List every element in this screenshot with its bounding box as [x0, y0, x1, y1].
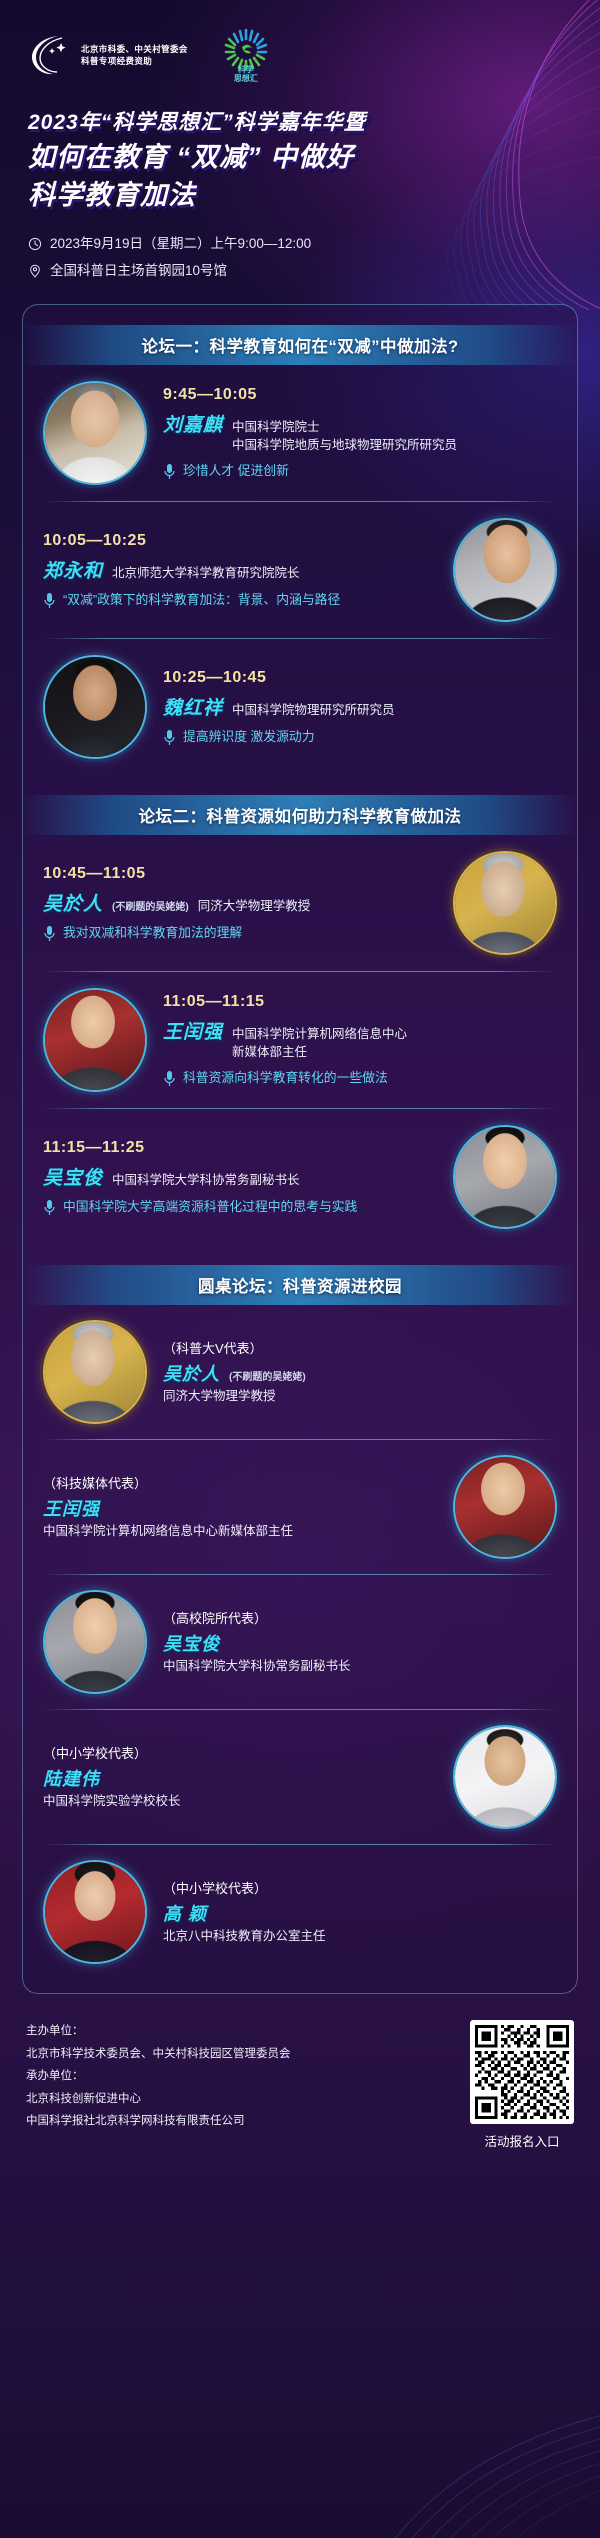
location-pin-icon — [28, 264, 42, 278]
event-datetime-row: 2023年9月19日（星期二）上午9:00—12:00 — [28, 230, 572, 257]
speaker-name: 王闰强 — [163, 1017, 223, 1044]
avatar — [43, 988, 147, 1092]
participant-name: 陆建伟 — [43, 1765, 100, 1791]
avatar-photo-figure — [455, 1727, 555, 1827]
poster-root: 北京市科委、中关村管委会 科普专项经费资助 — [0, 0, 600, 2538]
avatar-photo-figure — [455, 520, 555, 620]
avatar-photo-figure — [45, 1322, 145, 1422]
speaker-title-line1: 中国科学院计算机网络信息中心 — [232, 1027, 407, 1041]
logo-label-line1: 科学 — [234, 65, 258, 74]
organizer-value: 北京市科学技术委员会、中关村科技园区管理委员会 — [26, 2043, 291, 2065]
speaker-row: 10:45—11:05 吴於人 (不刷题的吴姥姥) 同济大学物理学教授 我对双减… — [23, 835, 577, 971]
logo-text-line2: 科普专项经费资助 — [81, 55, 188, 67]
title-line-1: 2023年“科学思想汇”科学嘉年华暨 — [28, 108, 572, 138]
avatar — [453, 1455, 557, 1559]
avatar — [453, 851, 557, 955]
speaker-time: 11:15—11:25 — [43, 1139, 437, 1157]
avatar — [43, 381, 147, 485]
participant-role: （科技媒体代表） — [43, 1474, 437, 1495]
speaker-topic: 中国科学院大学高端资源科普化过程中的思考与实践 — [63, 1198, 357, 1217]
speaker-info: 11:05—11:15 王闰强 中国科学院计算机网络信息中心 新媒体部主任 科普… — [163, 993, 557, 1088]
speaker-topic-row: “双减”政策下的科学教育加法：背景、内涵与路径 — [43, 591, 437, 610]
qr-label: 活动报名入口 — [484, 2131, 559, 2150]
speaker-info: 10:05—10:25 郑永和 北京师范大学科学教育研究院院长 “双减”政策下的… — [43, 532, 437, 610]
speaker-row: 10:25—10:45 魏红祥 中国科学院物理研究所研究员 提高辨识度 激发源动… — [23, 639, 577, 775]
avatar — [43, 655, 147, 759]
speaker-row: 9:45—10:05 刘嘉麒 中国科学院院士 中国科学院地质与地球物理研究所研究… — [23, 365, 577, 501]
participant-org: 中国科学院实验学校校长 — [43, 1791, 437, 1811]
roundtable-info: （中小学校代表） 高 颖 北京八中科技教育办公室主任 — [163, 1879, 557, 1946]
speaker-title: 中国科学院计算机网络信息中心 新媒体部主任 — [232, 1026, 407, 1062]
event-venue-row: 全国科普日主场首钢园10号馆 — [28, 257, 572, 284]
event-datetime: 2023年9月19日（星期二）上午9:00—12:00 — [50, 230, 311, 257]
registration-qr-block[interactable]: 活动报名入口 — [470, 2020, 574, 2150]
participant-name-row: 王闰强 — [43, 1495, 437, 1521]
avatar-photo-figure — [45, 383, 145, 483]
speaker-title-line2: 中国科学院地质与地球物理研究所研究员 — [232, 438, 457, 452]
participant-name-row: 吴宝俊 — [163, 1630, 557, 1656]
participant-alias: (不刷题的吴姥姥) — [229, 1368, 306, 1383]
speaker-topic: “双减”政策下的科学教育加法：背景、内涵与路径 — [63, 591, 340, 610]
clock-icon — [28, 237, 42, 251]
roundtable-banner-label: 圆桌论坛：科普资源进校园 — [198, 1273, 402, 1297]
speaker-name-row: 吴於人 (不刷题的吴姥姥) 同济大学物理学教授 — [43, 889, 437, 916]
roundtable-row: （科技媒体代表） 王闰强 中国科学院计算机网络信息中心新媒体部主任 — [23, 1440, 577, 1574]
title-line-3: 科学教育加法 — [28, 176, 572, 214]
speaker-info: 11:15—11:25 吴宝俊 中国科学院大学科协常务副秘书长 中国科学院大学高… — [43, 1139, 437, 1217]
speaker-title: 中国科学院物理研究所研究员 — [232, 702, 395, 720]
participant-role: （中小学校代表） — [163, 1879, 557, 1900]
logo-row: 北京市科委、中关村管委会 科普专项经费资助 — [28, 22, 572, 88]
roundtable-info: （中小学校代表） 陆建伟 中国科学院实验学校校长 — [43, 1744, 437, 1811]
participant-name-row: 吴於人 (不刷题的吴姥姥) — [163, 1360, 557, 1386]
forum1-banner-label: 论坛一：科学教育如何在“双减”中做加法? — [141, 333, 458, 357]
speaker-name-row: 吴宝俊 中国科学院大学科协常务副秘书长 — [43, 1163, 437, 1190]
organizer-label: 主办单位： — [26, 2020, 291, 2042]
microphone-icon — [163, 463, 176, 480]
speaker-name-row: 王闰强 中国科学院计算机网络信息中心 新媒体部主任 — [163, 1017, 557, 1062]
agenda-card: 论坛一：科学教育如何在“双减”中做加法? 9:45—10:05 刘嘉麒 中国科学… — [22, 304, 578, 1994]
organizer-block: 主办单位： 北京市科学技术委员会、中关村科技园区管理委员会 承办单位： 北京科技… — [26, 2020, 291, 2132]
poster-footer: 主办单位： 北京市科学技术委员会、中关村科技园区管理委员会 承办单位： 北京科技… — [0, 1994, 600, 2168]
microphone-icon — [163, 1070, 176, 1087]
logo-label-line2: 思想汇 — [234, 74, 258, 83]
avatar — [453, 1725, 557, 1829]
speaker-topic-row: 科普资源向科学教育转化的一些做法 — [163, 1069, 557, 1088]
speaker-time: 11:05—11:15 — [163, 993, 557, 1011]
event-venue: 全国科普日主场首钢园10号馆 — [50, 257, 227, 284]
crescent-logo-icon — [28, 32, 74, 78]
participant-org: 中国科学院计算机网络信息中心新媒体部主任 — [43, 1521, 437, 1541]
speaker-topic-row: 中国科学院大学高端资源科普化过程中的思考与实践 — [43, 1198, 437, 1217]
speaker-title: 中国科学院大学科协常务副秘书长 — [112, 1172, 300, 1190]
speaker-topic: 珍惜人才 促进创新 — [183, 462, 289, 481]
participant-name-row: 高 颖 — [163, 1900, 557, 1926]
avatar — [453, 518, 557, 622]
sunburst-logo-label: 科学 思想汇 — [234, 65, 258, 83]
speaker-alias: (不刷题的吴姥姥) — [112, 898, 189, 913]
kexue-sixianghui-logo: 科学 思想汇 — [222, 27, 270, 83]
speaker-title-line1: 中国科学院院士 — [232, 420, 320, 434]
roundtable-info: （高校院所代表） 吴宝俊 中国科学院大学科协常务副秘书长 — [163, 1609, 557, 1676]
speaker-row: 11:05—11:15 王闰强 中国科学院计算机网络信息中心 新媒体部主任 科普… — [23, 972, 577, 1108]
speaker-row: 10:05—10:25 郑永和 北京师范大学科学教育研究院院长 “双减”政策下的… — [23, 502, 577, 638]
title-line-2: 如何在教育 “双减” 中做好 — [28, 138, 572, 176]
speaker-time: 10:45—11:05 — [43, 865, 437, 883]
participant-role: （中小学校代表） — [43, 1744, 437, 1765]
logo-text-line1: 北京市科委、中关村管委会 — [81, 43, 188, 55]
participant-org: 北京八中科技教育办公室主任 — [163, 1926, 557, 1946]
roundtable-row: （中小学校代表） 高 颖 北京八中科技教育办公室主任 — [23, 1845, 577, 1979]
avatar-photo-figure — [45, 657, 145, 757]
avatar-photo-figure — [45, 1862, 145, 1962]
forum2-banner-label: 论坛二：科普资源如何助力科学教育做加法 — [139, 803, 462, 827]
speaker-title-line2: 新媒体部主任 — [232, 1045, 307, 1059]
participant-name: 高 颖 — [163, 1900, 207, 1926]
speaker-name-row: 刘嘉麒 中国科学院院士 中国科学院地质与地球物理研究所研究员 — [163, 410, 557, 455]
forum2-banner: 论坛二：科普资源如何助力科学教育做加法 — [23, 795, 577, 835]
speaker-info: 9:45—10:05 刘嘉麒 中国科学院院士 中国科学院地质与地球物理研究所研究… — [163, 386, 557, 481]
avatar — [453, 1125, 557, 1229]
speaker-topic-row: 我对双减和科学教育加法的理解 — [43, 924, 437, 943]
speaker-info: 10:45—11:05 吴於人 (不刷题的吴姥姥) 同济大学物理学教授 我对双减… — [43, 865, 437, 943]
speaker-title: 中国科学院院士 中国科学院地质与地球物理研究所研究员 — [232, 419, 457, 455]
roundtable-row: （科普大V代表） 吴於人 (不刷题的吴姥姥) 同济大学物理学教授 — [23, 1305, 577, 1439]
speaker-topic: 科普资源向科学教育转化的一些做法 — [183, 1069, 388, 1088]
speaker-topic: 我对双减和科学教育加法的理解 — [63, 924, 242, 943]
speaker-row: 11:15—11:25 吴宝俊 中国科学院大学科协常务副秘书长 中国科学院大学高… — [23, 1109, 577, 1245]
avatar-photo-figure — [455, 853, 555, 953]
forum1-banner: 论坛一：科学教育如何在“双减”中做加法? — [23, 325, 577, 365]
speaker-name-row: 魏红祥 中国科学院物理研究所研究员 — [163, 693, 557, 720]
avatar — [43, 1590, 147, 1694]
microphone-icon — [163, 729, 176, 746]
avatar-photo-figure — [455, 1127, 555, 1227]
poster-header: 北京市科委、中关村管委会 科普专项经费资助 — [0, 0, 600, 284]
host-label: 承办单位： — [26, 2065, 291, 2087]
participant-name-row: 陆建伟 — [43, 1765, 437, 1791]
qr-code-icon[interactable] — [470, 2020, 574, 2124]
roundtable-info: （科技媒体代表） 王闰强 中国科学院计算机网络信息中心新媒体部主任 — [43, 1474, 437, 1541]
host-value-1: 北京科技创新促进中心 — [26, 2088, 291, 2110]
speaker-time: 9:45—10:05 — [163, 386, 557, 404]
roundtable-info: （科普大V代表） 吴於人 (不刷题的吴姥姥) 同济大学物理学教授 — [163, 1339, 557, 1406]
beijing-stc-logo-text: 北京市科委、中关村管委会 科普专项经费资助 — [81, 43, 188, 68]
speaker-topic-row: 珍惜人才 促进创新 — [163, 462, 557, 481]
microphone-icon — [43, 1199, 56, 1216]
avatar-photo-figure — [45, 1592, 145, 1692]
speaker-name: 魏红祥 — [163, 693, 223, 720]
speaker-name: 吴於人 — [43, 889, 103, 916]
microphone-icon — [43, 925, 56, 942]
speaker-name-row: 郑永和 北京师范大学科学教育研究院院长 — [43, 556, 437, 583]
swirl-decoration-bottom — [370, 2328, 600, 2538]
speaker-title: 北京师范大学科学教育研究院院长 — [112, 565, 300, 583]
avatar — [43, 1860, 147, 1964]
roundtable-row: （高校院所代表） 吴宝俊 中国科学院大学科协常务副秘书长 — [23, 1575, 577, 1709]
poster-title-block: 2023年“科学思想汇”科学嘉年华暨 如何在教育 “双减” 中做好 科学教育加法 — [28, 108, 572, 214]
participant-name: 吴於人 — [163, 1360, 220, 1386]
roundtable-banner: 圆桌论坛：科普资源进校园 — [23, 1265, 577, 1305]
speaker-name: 刘嘉麒 — [163, 410, 223, 437]
avatar-photo-figure — [45, 990, 145, 1090]
participant-role: （高校院所代表） — [163, 1609, 557, 1630]
speaker-time: 10:25—10:45 — [163, 669, 557, 687]
speaker-name: 吴宝俊 — [43, 1163, 103, 1190]
roundtable-row: （中小学校代表） 陆建伟 中国科学院实验学校校长 — [23, 1710, 577, 1844]
beijing-stc-logo: 北京市科委、中关村管委会 科普专项经费资助 — [28, 32, 188, 78]
event-meta: 2023年9月19日（星期二）上午9:00—12:00 全国科普日主场首钢园10… — [28, 230, 572, 284]
microphone-icon — [43, 592, 56, 609]
participant-name: 吴宝俊 — [163, 1630, 220, 1656]
speaker-topic-row: 提高辨识度 激发源动力 — [163, 728, 557, 747]
speaker-info: 10:25—10:45 魏红祥 中国科学院物理研究所研究员 提高辨识度 激发源动… — [163, 669, 557, 747]
speaker-title: 同济大学物理学教授 — [198, 898, 311, 916]
avatar-photo-figure — [455, 1457, 555, 1557]
participant-org: 同济大学物理学教授 — [163, 1386, 557, 1406]
avatar — [43, 1320, 147, 1424]
host-value-2: 中国科学报社北京科学网科技有限责任公司 — [26, 2110, 291, 2132]
speaker-name: 郑永和 — [43, 556, 103, 583]
participant-name: 王闰强 — [43, 1495, 100, 1521]
speaker-time: 10:05—10:25 — [43, 532, 437, 550]
participant-org: 中国科学院大学科协常务副秘书长 — [163, 1656, 557, 1676]
speaker-topic: 提高辨识度 激发源动力 — [183, 728, 315, 747]
participant-role: （科普大V代表） — [163, 1339, 557, 1360]
